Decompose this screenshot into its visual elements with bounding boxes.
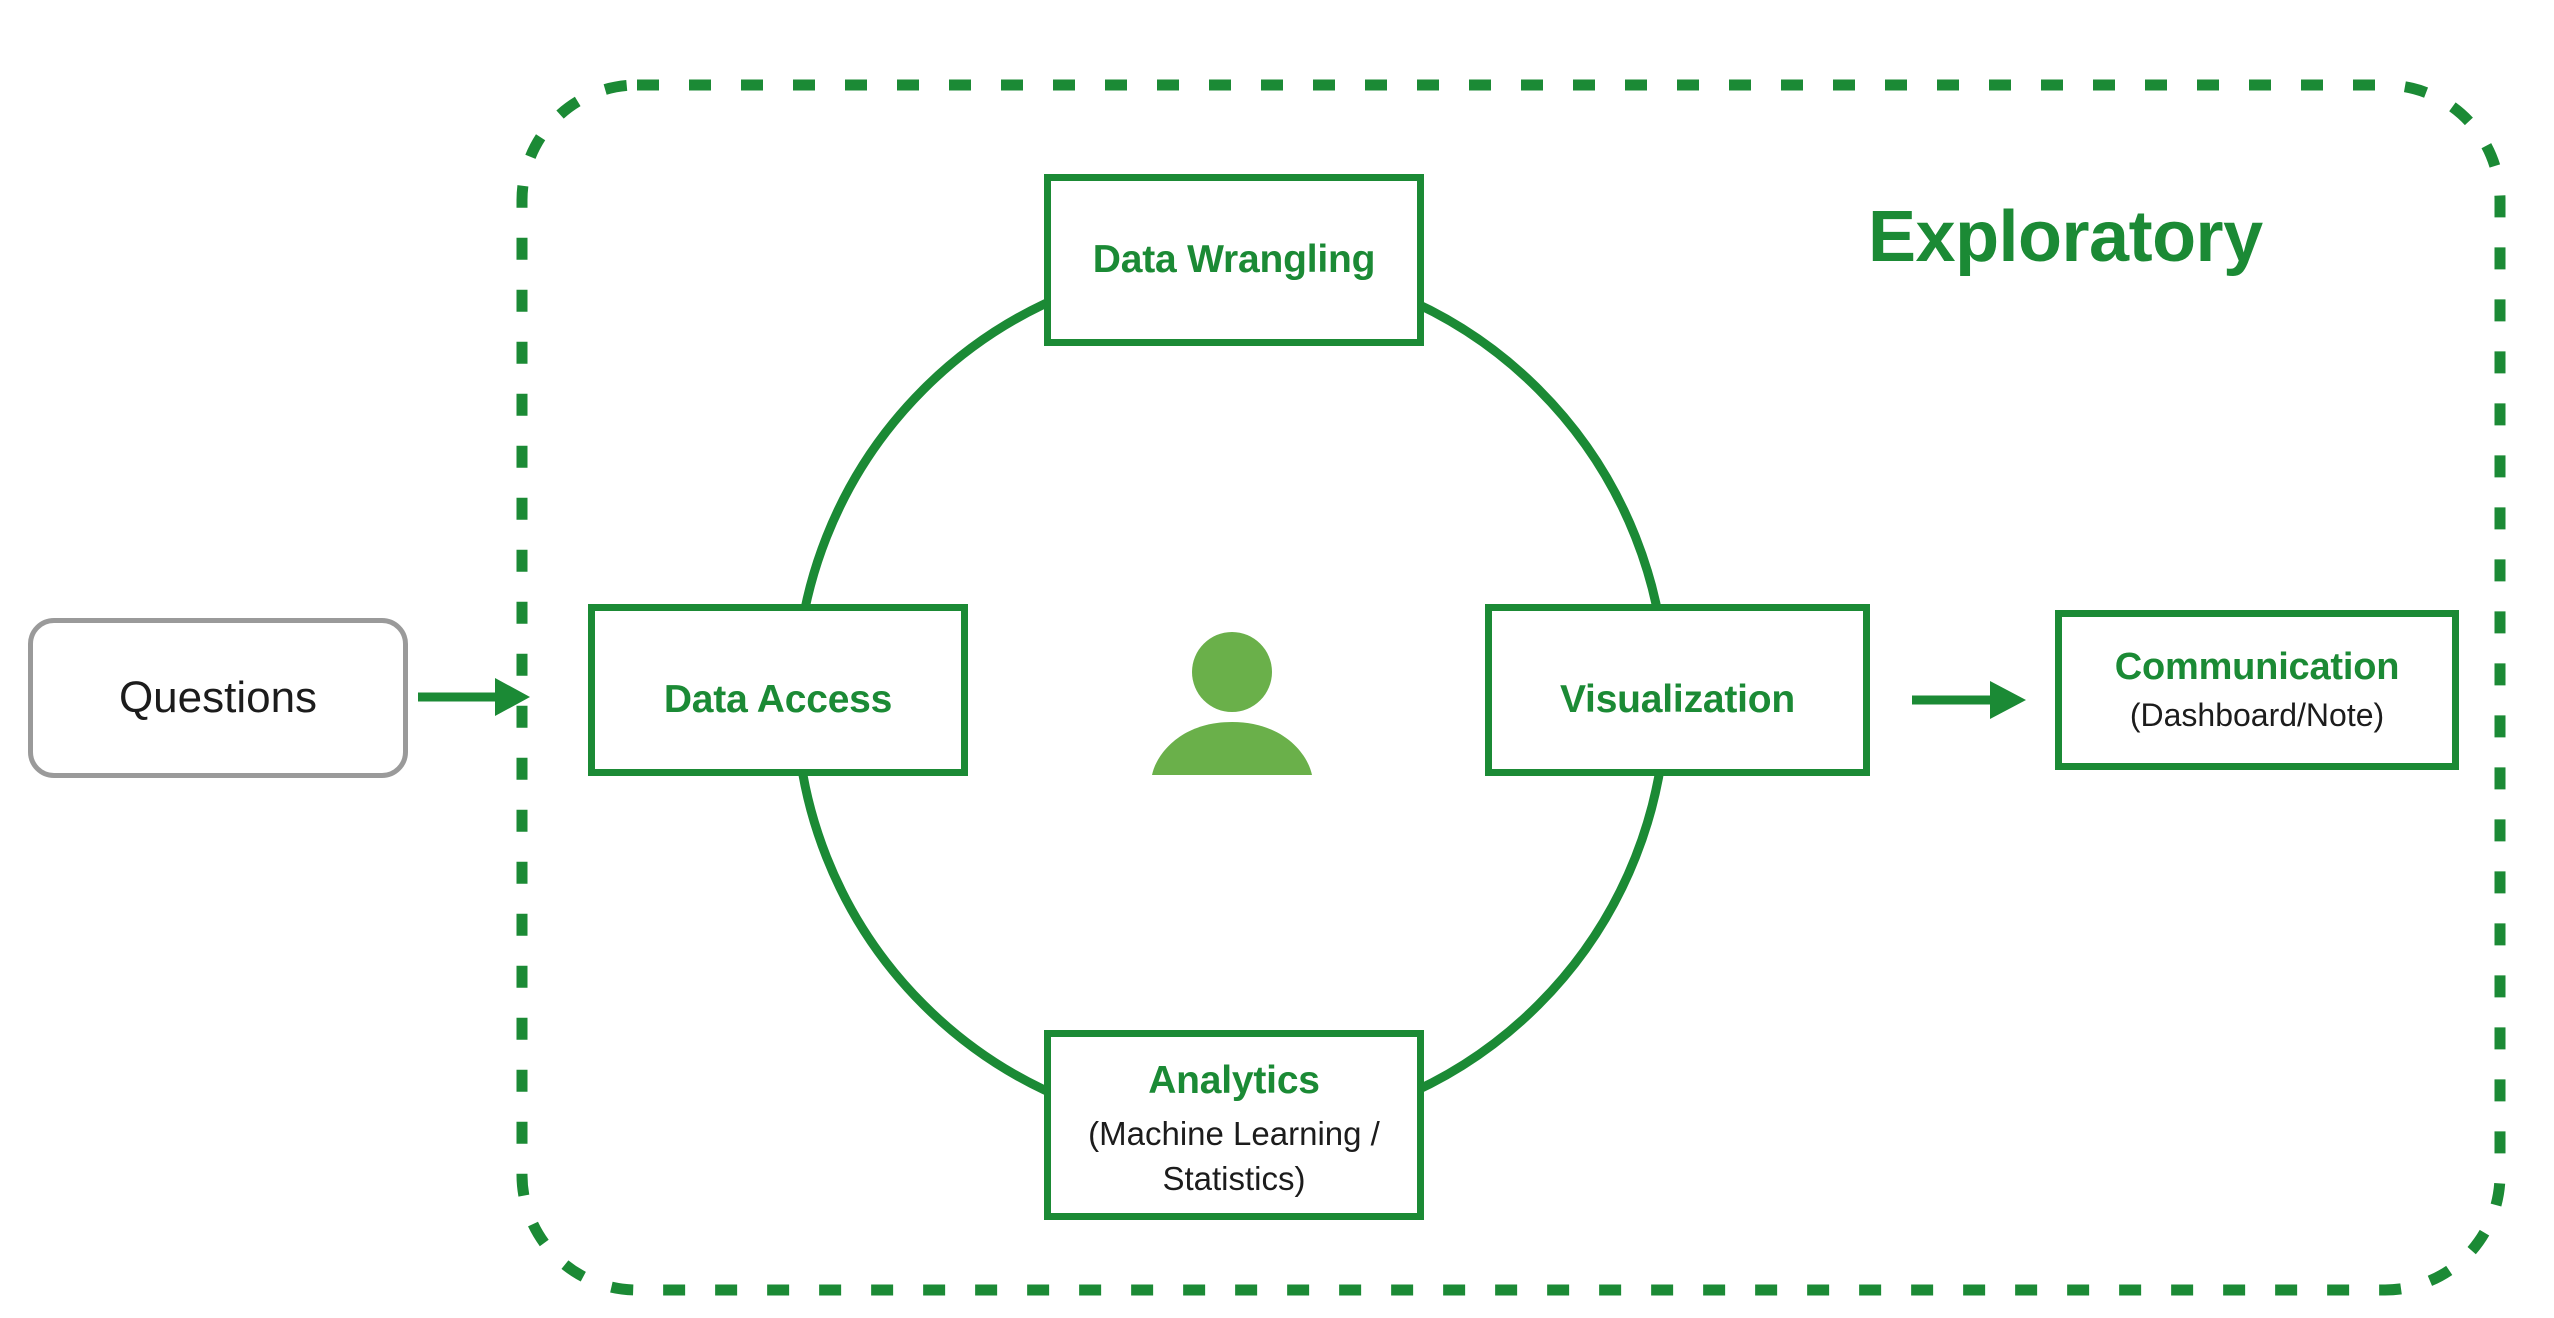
node-data-access[interactable]: Data Access <box>588 604 968 776</box>
exploratory-title: Exploratory <box>1868 196 2263 278</box>
node-questions-label: Questions <box>119 673 317 723</box>
node-communication-sublabel: (Dashboard/Note) <box>2130 697 2384 734</box>
node-data-wrangling[interactable]: Data Wrangling <box>1044 174 1424 346</box>
node-data-wrangling-label: Data Wrangling <box>1093 238 1376 282</box>
node-analytics-sublabel-line2: Statistics) <box>1162 1157 1305 1201</box>
node-visualization-label: Visualization <box>1560 678 1795 722</box>
node-questions[interactable]: Questions <box>28 618 408 778</box>
node-visualization[interactable]: Visualization <box>1485 604 1870 776</box>
node-analytics-sublabel-line1: (Machine Learning / <box>1088 1112 1380 1156</box>
node-analytics-label: Analytics <box>1148 1061 1320 1102</box>
arrow-visualization-to-communication <box>1912 681 2026 719</box>
node-communication[interactable]: Communication (Dashboard/Note) <box>2055 610 2459 770</box>
node-communication-label: Communication <box>2115 646 2400 689</box>
node-analytics[interactable]: Analytics (Machine Learning / Statistics… <box>1044 1030 1424 1220</box>
arrow-questions-to-data-access <box>418 678 530 716</box>
diagram-canvas: Questions Data Wrangling Data Access Vis… <box>0 0 2554 1318</box>
node-data-access-label: Data Access <box>664 678 892 722</box>
person-icon <box>1142 630 1322 775</box>
